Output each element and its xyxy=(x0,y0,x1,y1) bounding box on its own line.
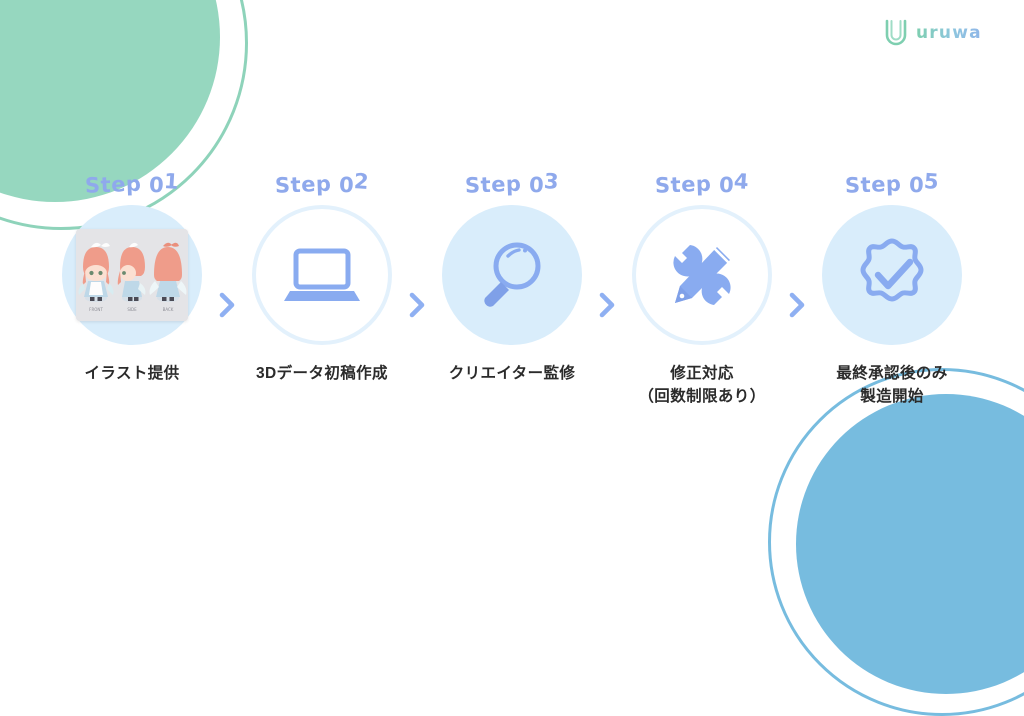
verified-badge-check-icon xyxy=(850,233,934,317)
process-steps: Step 01 xyxy=(0,172,1024,409)
step-05-caption: 最終承認後のみ 製造開始 xyxy=(836,362,947,409)
svg-text:BACK: BACK xyxy=(163,307,174,312)
step-03[interactable]: Step 03 クリエイター監修 xyxy=(417,172,607,385)
step-04-caption: 修正対応 （回数制限あり） xyxy=(638,362,765,409)
step-02-caption: 3Dデータ初稿作成 xyxy=(256,362,388,385)
svg-text:uruwa: uruwa xyxy=(916,23,982,43)
svg-text:SIDE: SIDE xyxy=(127,307,137,312)
step-01-label: Step 01 xyxy=(84,170,179,198)
laptop-icon xyxy=(280,233,364,317)
step-05-label: Step 05 xyxy=(844,170,939,198)
u-mark-icon xyxy=(883,18,909,46)
step-02[interactable]: Step 02 3Dデータ初稿作成 xyxy=(227,172,417,385)
step-02-circle xyxy=(252,205,392,345)
logo-wordmark: uruwa xyxy=(916,21,1002,43)
step-01-circle: FRONT SIDE BACK xyxy=(62,205,202,345)
step-05[interactable]: Step 05 最終承認後のみ 製造開始 xyxy=(797,172,987,409)
brand-logo: uruwa xyxy=(883,18,1002,46)
step-02-label: Step 02 xyxy=(274,170,369,198)
decorative-blue-ring xyxy=(768,368,1024,716)
step-01[interactable]: Step 01 xyxy=(37,172,227,385)
step-03-caption: クリエイター監修 xyxy=(449,362,576,385)
decorative-blue-circle xyxy=(796,394,1024,694)
step-05-circle xyxy=(822,205,962,345)
step-03-label: Step 03 xyxy=(464,170,559,198)
wrench-pencil-icon xyxy=(660,233,744,317)
step-01-caption: イラスト提供 xyxy=(84,362,179,385)
svg-text:FRONT: FRONT xyxy=(89,307,103,312)
step-04-circle xyxy=(632,205,772,345)
step-03-circle xyxy=(442,205,582,345)
character-sheet-thumbnail-icon: FRONT SIDE BACK xyxy=(76,229,188,321)
magnifying-glass-icon xyxy=(470,233,554,317)
step-04-label: Step 04 xyxy=(654,170,749,198)
step-04[interactable]: Step 04 修正対応 （回数制限あり） xyxy=(607,172,797,409)
